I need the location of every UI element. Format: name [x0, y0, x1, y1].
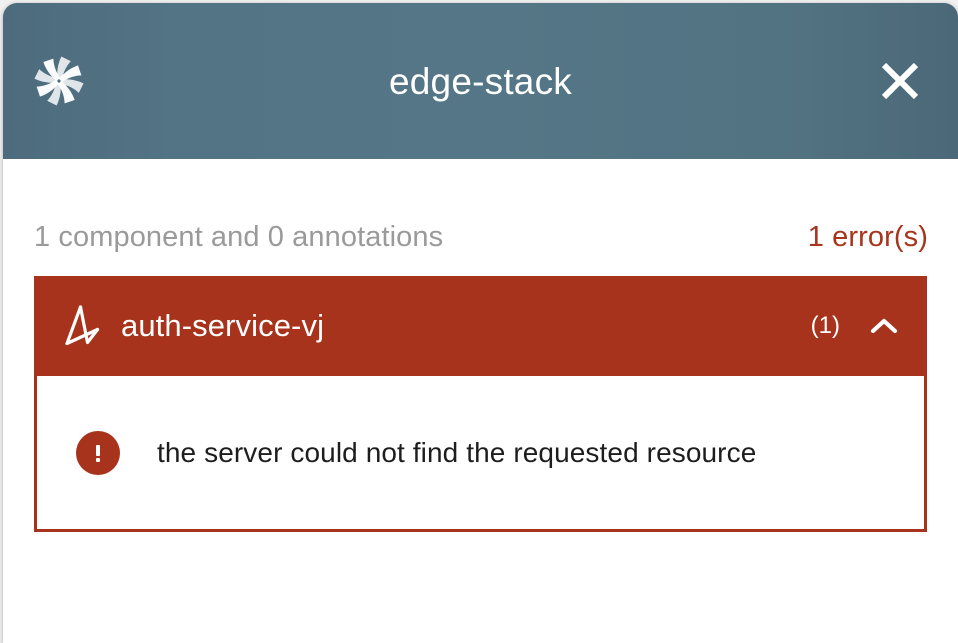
summary-row: 1 component and 0 annotations 1 error(s): [3, 159, 958, 254]
close-x-icon: [878, 59, 922, 103]
close-button[interactable]: [874, 55, 926, 107]
chevron-up-icon: [868, 310, 900, 342]
dialog-title: edge-stack: [3, 63, 958, 100]
component-block: auth-service-vj (1) the server could not…: [34, 276, 927, 532]
error-detail-panel: the server could not find the requested …: [34, 376, 927, 532]
component-header-auth-service-vj[interactable]: auth-service-vj (1): [34, 276, 927, 376]
dialog-titlebar: edge-stack: [3, 3, 958, 159]
alert-exclamation-icon: [76, 431, 120, 475]
error-count-label: 1 error(s): [808, 221, 928, 254]
component-error-count: (1): [811, 312, 840, 340]
ambassador-mapping-icon: [56, 302, 110, 350]
collapse-toggle-button[interactable]: [867, 309, 901, 343]
edge-stack-pinwheel-logo-icon: [31, 53, 87, 109]
error-message: the server could not find the requested …: [157, 437, 756, 469]
edge-stack-dialog: edge-stack 1 component and 0 annotations…: [3, 3, 958, 643]
component-name: auth-service-vj: [121, 308, 811, 344]
component-annotation-count: 1 component and 0 annotations: [34, 221, 443, 254]
